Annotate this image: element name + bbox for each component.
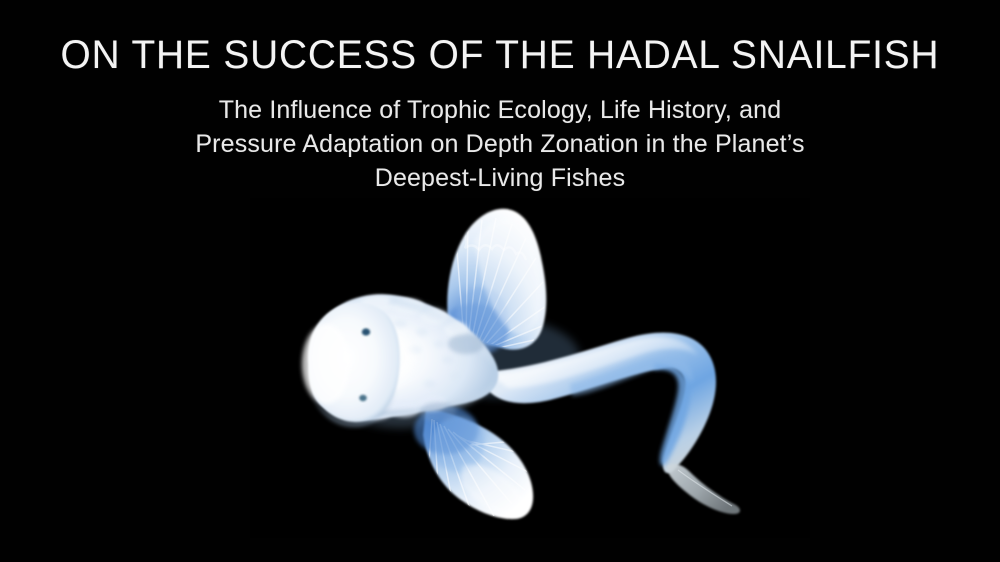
page-title: ON THE SUCCESS OF THE HADAL SNAILFISH bbox=[15, 32, 985, 79]
title-block: ON THE SUCCESS OF THE HADAL SNAILFISH Th… bbox=[0, 0, 1000, 195]
subtitle: The Influence of Trophic Ecology, Life H… bbox=[140, 93, 860, 195]
eye-upper bbox=[362, 328, 370, 335]
subtitle-line-3: Deepest-Living Fishes bbox=[140, 161, 860, 195]
hadal-snailfish-photo bbox=[250, 198, 810, 538]
subtitle-line-2: Pressure Adaptation on Depth Zonation in… bbox=[140, 127, 860, 161]
title-slide: ON THE SUCCESS OF THE HADAL SNAILFISH Th… bbox=[0, 0, 1000, 562]
eye-lower bbox=[359, 395, 367, 401]
snailfish-illustration bbox=[250, 198, 810, 538]
subtitle-line-1: The Influence of Trophic Ecology, Life H… bbox=[140, 93, 860, 127]
